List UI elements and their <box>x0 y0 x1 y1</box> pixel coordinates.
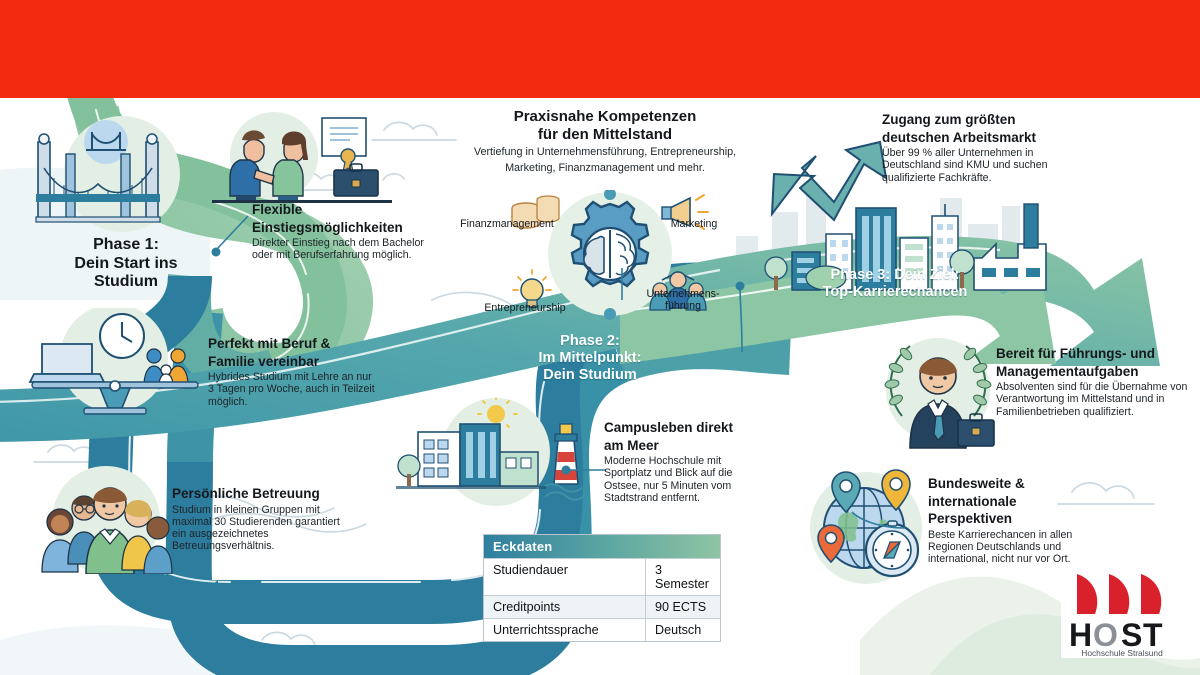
phase-3-line-2: Top-Karrierechancen <box>770 284 1020 301</box>
feature-heading: Perfekt mit Beruf & <box>208 336 378 352</box>
feature-heading-2: Einstiegsmöglichkeiten <box>252 220 436 236</box>
feature-heading: Bundesweite & <box>928 476 1088 492</box>
fact-value: 90 ECTS <box>646 596 720 618</box>
phase-2-line-3: Dein Studium <box>500 367 680 384</box>
fact-value: Deutsch <box>646 619 720 641</box>
skill-label-unternehmensfuehrung: Unternehmens- führung <box>630 288 736 312</box>
host-logo-subtitle: Hochschule Stralsund <box>1061 648 1183 658</box>
feature-heading-2: internationale <box>928 494 1088 510</box>
competences-heading-line-2: für den Mittelstand <box>440 126 770 144</box>
header-bar <box>0 0 1200 98</box>
phase-2-line-1: Phase 2: <box>500 333 680 350</box>
phase-3-label: Phase 3: Dein Ziel: Top-Karrierechancen <box>770 267 1020 301</box>
phase-1-line-1: Phase 1: <box>36 236 216 255</box>
feature-heading: Flexible <box>252 202 436 218</box>
fact-table: Eckdaten Studiendauer 3 Semester Creditp… <box>483 534 721 642</box>
phase-3-line-1: Phase 3: Dein Ziel: <box>770 267 1020 284</box>
host-logo-mark: H O S T <box>1061 568 1183 658</box>
fact-value: 3 Semester <box>646 559 720 595</box>
skill-label-line-1: Unternehmens- <box>630 288 736 300</box>
feature-body: Direkter Einstieg nach dem Bachelor oder… <box>252 237 436 262</box>
competences-body-line-1: Vertiefung in Unternehmensführung, Entre… <box>440 146 770 159</box>
feature-body: Hybrides Studium mit Lehre an nur 3 Tage… <box>208 371 378 408</box>
feature-body: Absolventen sind für die Übernahme von V… <box>996 381 1192 418</box>
feature-body: Über 99 % aller Unternehmen in Deutschla… <box>882 147 1074 184</box>
phase-2-line-2: Im Mittelpunkt: <box>500 350 680 367</box>
phase-2-label: Phase 2: Im Mittelpunkt: Dein Studium <box>500 333 680 384</box>
fact-key: Unterrichtssprache <box>484 619 646 641</box>
phase-1-line-2: Dein Start ins <box>36 255 216 274</box>
fact-key: Creditpoints <box>484 596 646 618</box>
feature-heading-2: Managementaufgaben <box>996 364 1192 380</box>
fact-table-title: Eckdaten <box>484 535 720 558</box>
feature-beruf-familie: Perfekt mit Beruf & Familie vereinbar Hy… <box>208 336 378 408</box>
feature-arbeitsmarkt: Zugang zum größten deutschen Arbeitsmark… <box>882 112 1074 184</box>
table-row: Unterrichtssprache Deutsch <box>484 618 720 641</box>
sail-shapes-icon <box>1077 574 1161 614</box>
feature-heading: Campusleben direkt <box>604 420 756 436</box>
host-logo: H O S T <box>1061 568 1183 658</box>
feature-heading-3: Perspektiven <box>928 511 1088 527</box>
skill-label-line-2: führung <box>630 300 736 312</box>
competences-body-line-2: Marketing, Finanzmanagement und mehr. <box>440 162 770 175</box>
feature-heading-2: am Meer <box>604 438 756 454</box>
competences-heading: Praxisnahe Kompetenzen für den Mittelsta… <box>440 108 770 174</box>
fact-key: Studiendauer <box>484 559 646 595</box>
skill-label-entrepreneurship: Entrepreneurship <box>466 302 584 314</box>
phase-1-line-3: Studium <box>36 273 216 292</box>
infographic-canvas: Management studieren. Mit Master-Abschlu… <box>0 0 1200 675</box>
phase-1-label: Phase 1: Dein Start ins Studium <box>36 236 216 292</box>
feature-heading: Persönliche Betreuung <box>172 486 350 502</box>
feature-heading: Bereit für Führungs- und <box>996 346 1192 362</box>
feature-heading-2: deutschen Arbeitsmarkt <box>882 130 1074 146</box>
feature-persoenliche-betreuung: Persönliche Betreuung Studium in kleinen… <box>172 486 350 553</box>
table-row: Creditpoints 90 ECTS <box>484 595 720 618</box>
feature-body: Studium in kleinen Gruppen mit maximal 3… <box>172 504 350 553</box>
feature-body: Beste Karrierechancen in allen Regionen … <box>928 529 1088 566</box>
feature-perspektiven: Bundesweite & internationale Perspektive… <box>928 476 1088 565</box>
skill-label-finanzmanagement: Finanzmanagement <box>444 218 570 230</box>
feature-fuehrungsaufgaben: Bereit für Führungs- und Managementaufga… <box>996 346 1192 418</box>
feature-flexible-einstieg: Flexible Einstiegsmöglichkeiten Direkter… <box>252 202 436 262</box>
competences-heading-line-1: Praxisnahe Kompetenzen <box>440 108 770 126</box>
feature-campusleben: Campusleben direkt am Meer Moderne Hochs… <box>604 420 756 504</box>
feature-heading: Zugang zum größten <box>882 112 1074 128</box>
skill-label-marketing: Marketing <box>646 218 742 230</box>
feature-body: Moderne Hochschule mit Sportplatz und Bl… <box>604 455 756 504</box>
table-row: Studiendauer 3 Semester <box>484 558 720 595</box>
feature-heading-2: Familie vereinbar <box>208 354 378 370</box>
